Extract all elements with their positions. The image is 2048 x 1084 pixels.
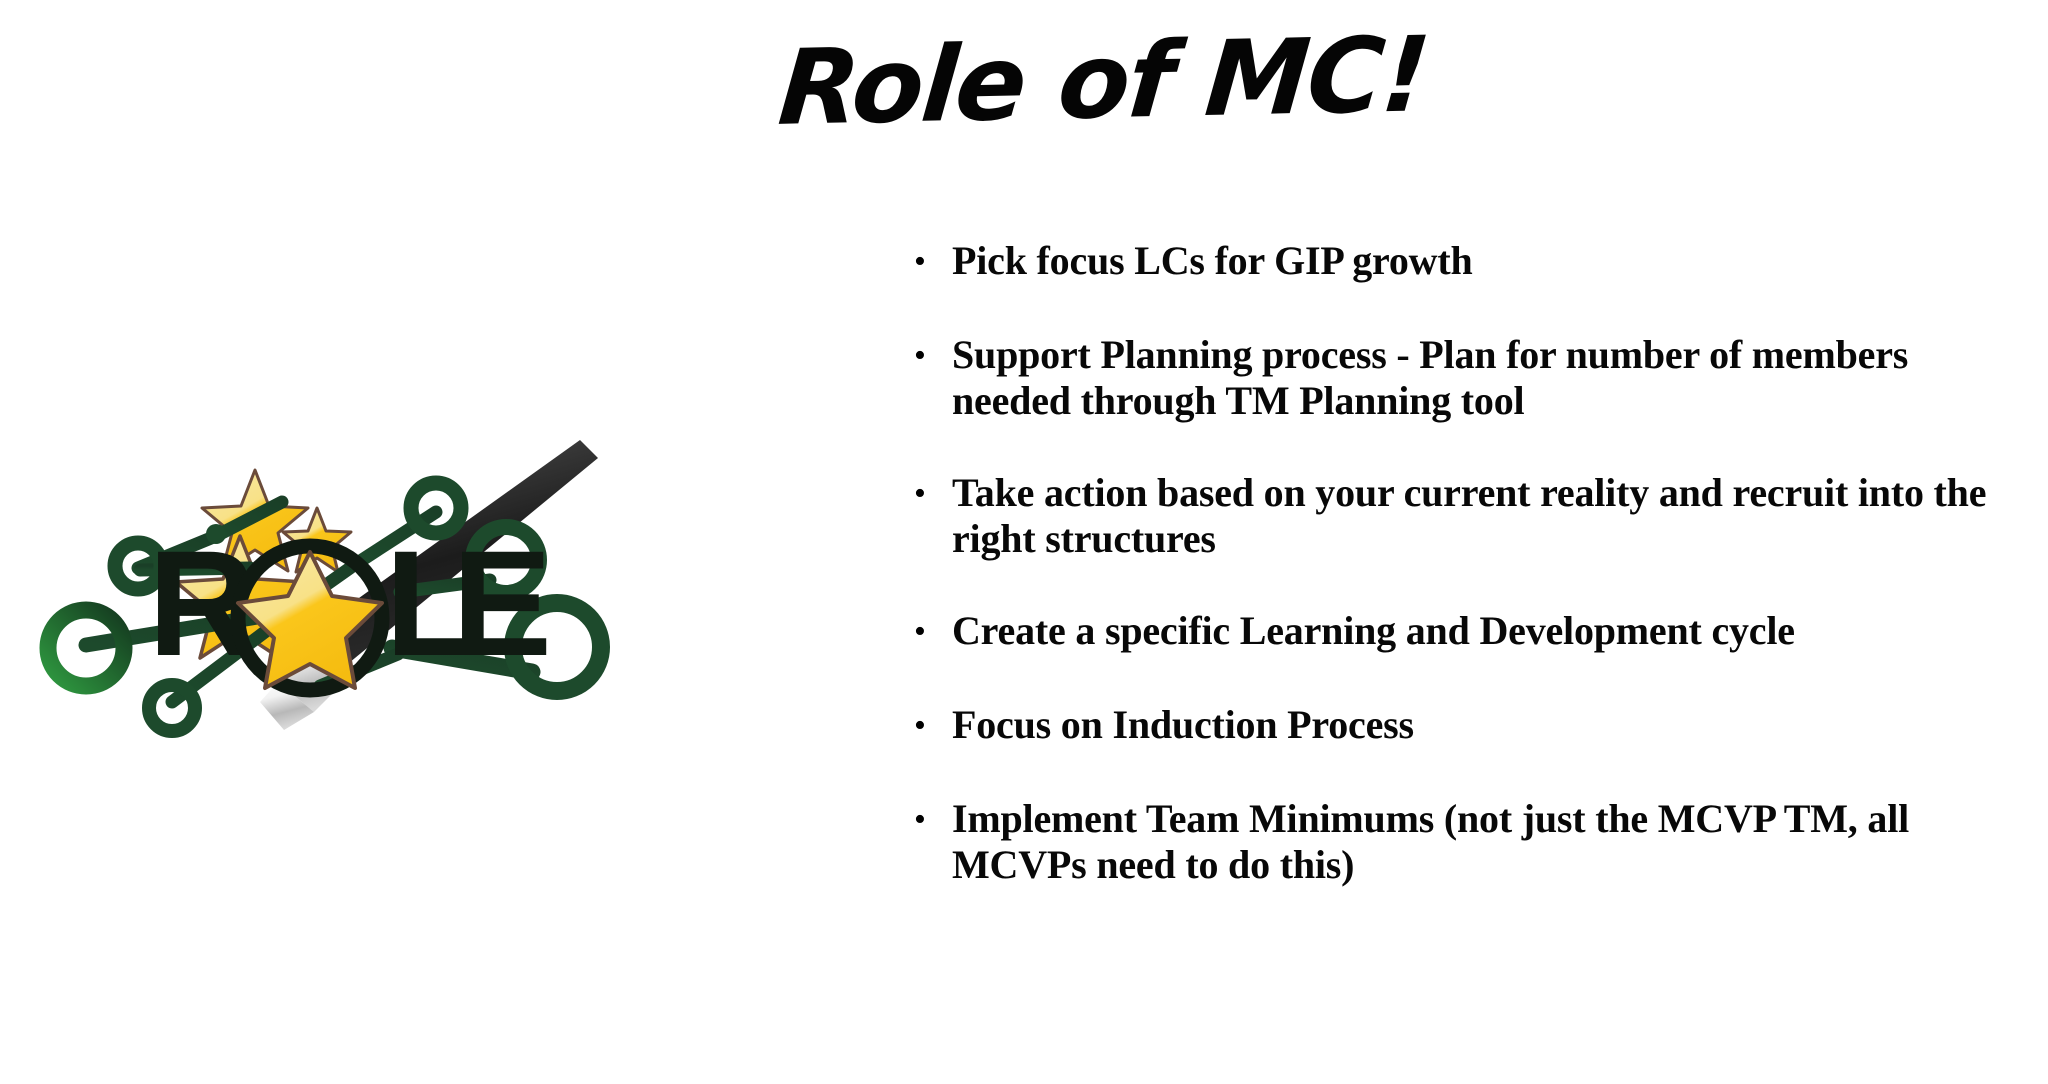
- list-item: • Create a specific Learning and Develop…: [900, 608, 1990, 656]
- list-item: • Support Planning process - Plan for nu…: [900, 332, 1990, 424]
- list-item: • Focus on Induction Process: [900, 702, 1990, 750]
- bullet-marker-icon: •: [900, 238, 952, 286]
- list-item: • Pick focus LCs for GIP growth: [900, 238, 1990, 286]
- role-letter-e: E: [452, 519, 552, 687]
- bullet-text: Focus on Induction Process: [952, 702, 1990, 748]
- bullet-text: Take action based on your current realit…: [952, 470, 1990, 562]
- bullet-text: Support Planning process - Plan for numb…: [952, 332, 1990, 424]
- list-item: • Implement Team Minimums (not just the …: [900, 796, 1990, 888]
- bullet-marker-icon: •: [900, 796, 952, 844]
- bullet-text: Implement Team Minimums (not just the MC…: [952, 796, 1990, 888]
- list-item: • Take action based on your current real…: [900, 470, 1990, 562]
- role-logo-illustration: R L E: [20, 440, 780, 940]
- bullet-list: • Pick focus LCs for GIP growth • Suppor…: [900, 238, 1990, 888]
- bullet-marker-icon: •: [900, 332, 952, 380]
- bullet-text: Create a specific Learning and Developme…: [952, 608, 1990, 654]
- bullet-marker-icon: •: [900, 702, 952, 750]
- bullet-marker-icon: •: [900, 470, 952, 518]
- slide-title: Role of MC!: [775, 22, 1345, 143]
- bullet-marker-icon: •: [900, 608, 952, 656]
- slide-canvas: R L E Role of MC! • Pick focus LCs for G…: [0, 0, 2048, 1084]
- bullet-text: Pick focus LCs for GIP growth: [952, 238, 1990, 284]
